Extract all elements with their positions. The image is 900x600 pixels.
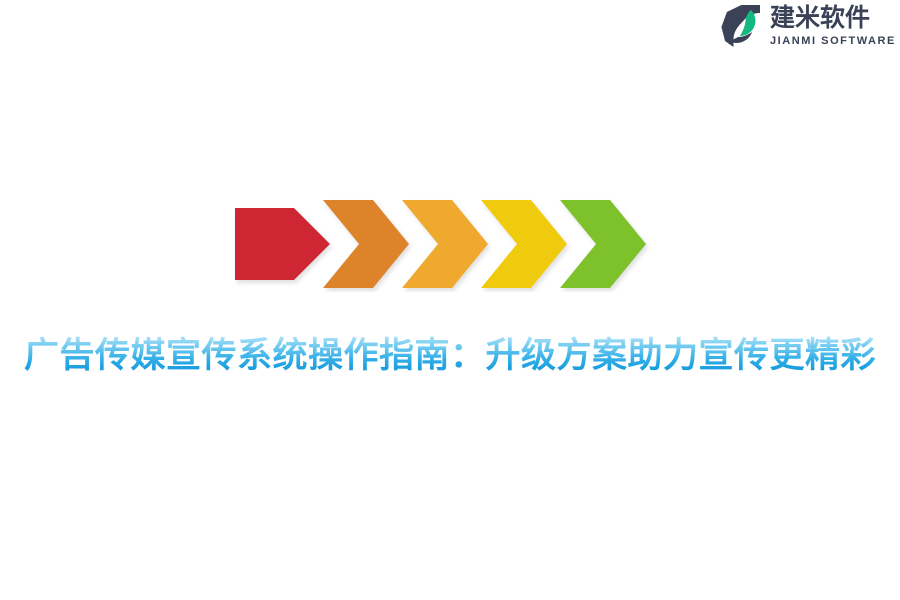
brand-name-en: JIANMI SOFTWARE [770,36,896,47]
chevron-segment-5 [560,200,646,288]
chevron-segment-2 [323,200,409,288]
jianmi-leaf-logo-icon [718,3,764,49]
five-step-chevron-arrows-icon [228,196,652,292]
page-title: 广告传媒宣传系统操作指南：升级方案助力宣传更精彩 [0,334,900,378]
chevron-segment-4 [481,200,567,288]
chevron-segment-3 [402,200,488,288]
brand-logo: 建米软件 JIANMI SOFTWARE [718,0,898,52]
brand-name-cn: 建米软件 [770,6,896,31]
brand-logo-text: 建米软件 JIANMI SOFTWARE [770,5,896,47]
chevron-segment-1 [235,208,330,280]
